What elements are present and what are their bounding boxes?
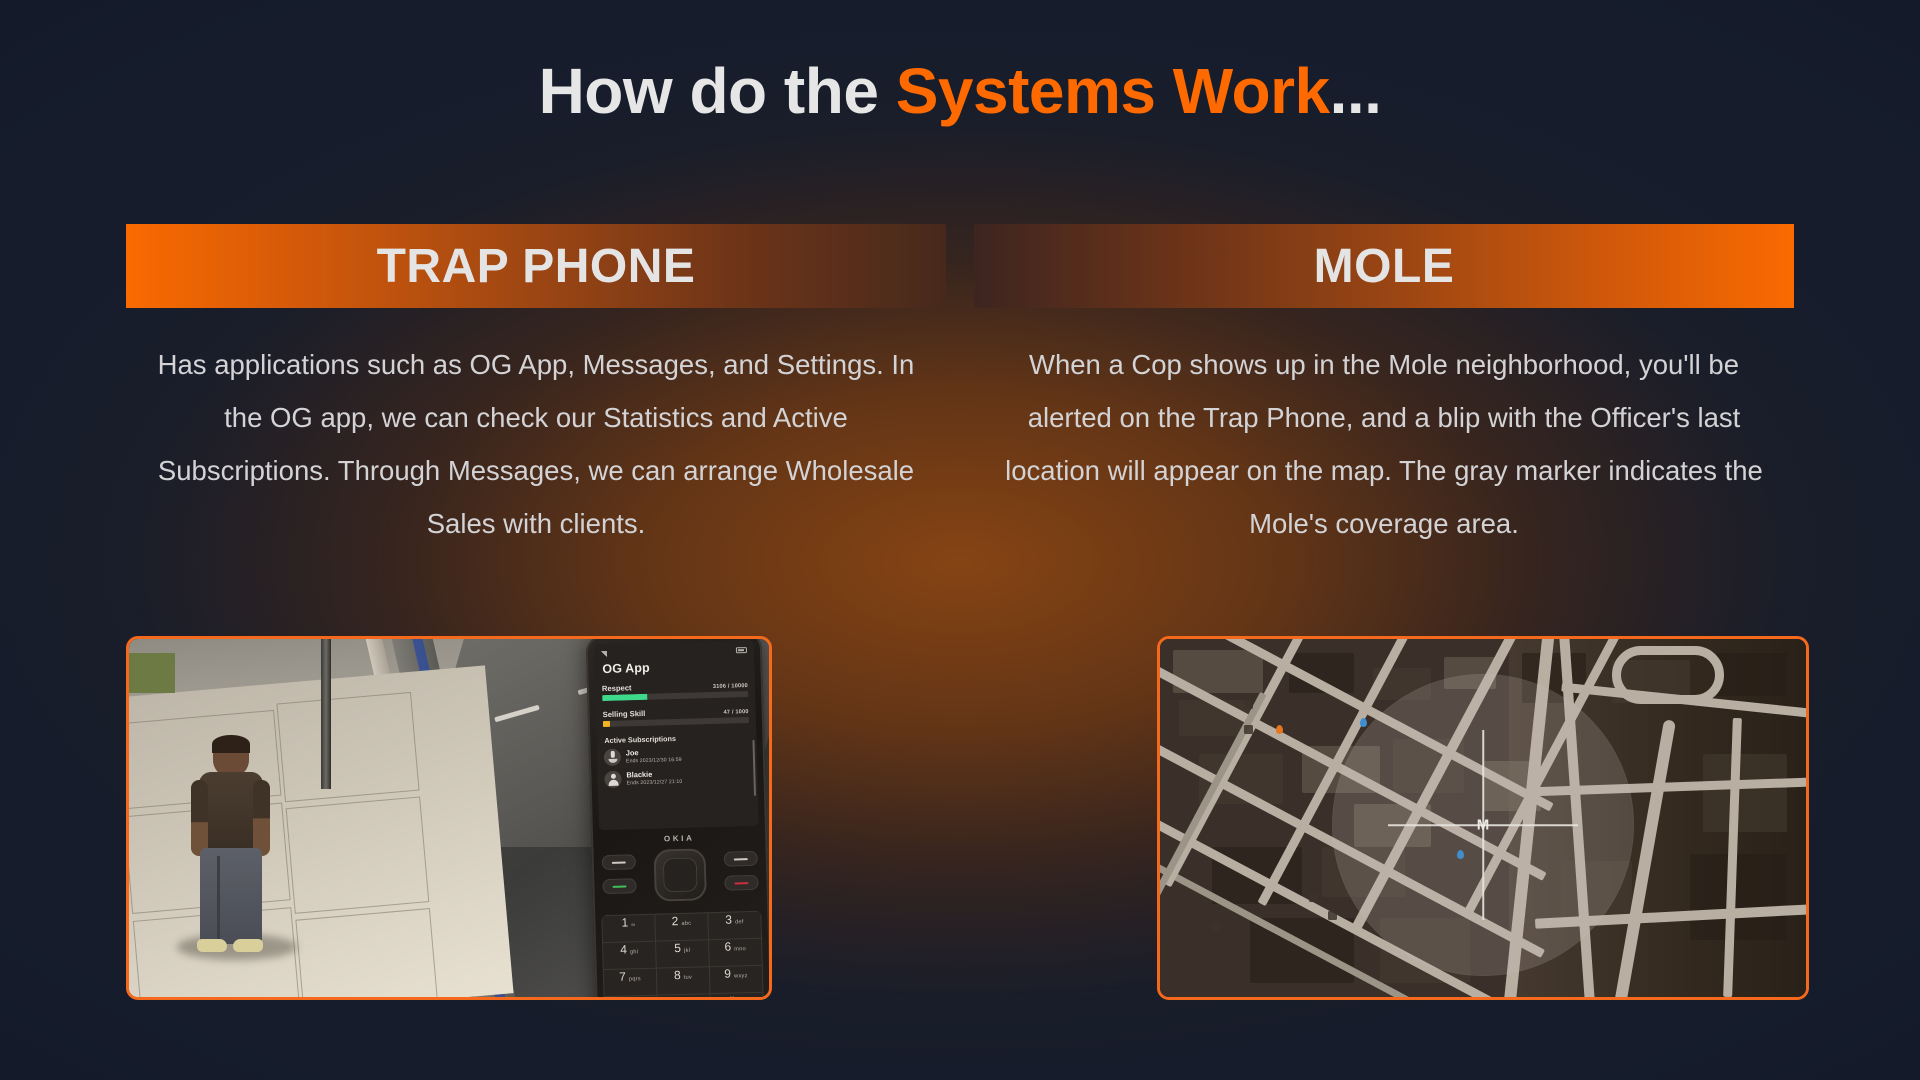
character-arm-left bbox=[191, 780, 208, 856]
map-poi-icon[interactable] bbox=[1244, 700, 1253, 709]
subscriptions-heading: Active Subscriptions bbox=[604, 732, 749, 745]
phone-status-bar bbox=[601, 646, 747, 658]
key-digit: 8 bbox=[674, 968, 681, 982]
key-digit: 5 bbox=[674, 941, 681, 955]
map-poi-icon[interactable] bbox=[1212, 922, 1221, 931]
title-ellipsis: ... bbox=[1330, 55, 1382, 127]
subscription-name: Joe bbox=[626, 748, 639, 757]
end-call-button[interactable] bbox=[724, 875, 758, 891]
key-letters: ghi bbox=[630, 949, 639, 955]
game-minimap: M bbox=[1160, 639, 1806, 997]
media-trap-phone: OG App Respect 3106 / 10000 Selling Skil… bbox=[126, 636, 772, 1000]
description-mole: When a Cop shows up in the Mole neighbor… bbox=[974, 338, 1794, 550]
vehicle-blip-icon[interactable] bbox=[1360, 718, 1367, 727]
key-digit: 0 bbox=[677, 995, 684, 997]
key-5[interactable]: 5jkl bbox=[656, 940, 709, 967]
phone-nav-zone bbox=[599, 845, 761, 911]
stat-label-respect: Respect bbox=[602, 683, 632, 693]
slide-root: How do the Systems Work... TRAP PHONE Ha… bbox=[0, 0, 1920, 1080]
progress-fill-respect bbox=[602, 694, 647, 701]
list-item[interactable]: Joe Ends 2023/12/30 16:59 bbox=[604, 745, 750, 766]
mole-marker[interactable]: M bbox=[1471, 818, 1496, 833]
banner-trap-phone-label: TRAP PHONE bbox=[377, 239, 696, 294]
key-letters: abc bbox=[681, 921, 691, 927]
character-leg-split bbox=[217, 856, 220, 942]
battery-icon bbox=[736, 647, 747, 653]
phone-brand-label: OKIA bbox=[599, 832, 759, 845]
dpad-control[interactable] bbox=[653, 848, 706, 901]
subscription-expiry: Ends 2023/12/30 16:59 bbox=[626, 757, 682, 765]
page-title: How do the Systems Work... bbox=[0, 56, 1920, 126]
key-letters: pqrs bbox=[629, 976, 641, 982]
description-trap-phone: Has applications such as OG App, Message… bbox=[126, 338, 946, 550]
media-mole-map: M bbox=[1157, 636, 1809, 1000]
end-call-icon bbox=[734, 882, 748, 884]
title-part-highlight: Systems Work bbox=[896, 55, 1330, 127]
subscription-text: Joe Ends 2023/12/30 16:59 bbox=[626, 748, 682, 765]
map-poi-icon[interactable] bbox=[1328, 911, 1337, 920]
dash-icon bbox=[612, 861, 626, 863]
key-hash[interactable]: #o s bbox=[711, 993, 764, 997]
dash-icon bbox=[734, 858, 748, 860]
phone-app-title: OG App bbox=[602, 658, 747, 676]
soft-key-right-top[interactable] bbox=[724, 851, 758, 867]
subscription-expiry: Ends 2023/12/27 21:10 bbox=[627, 779, 683, 787]
character-shoe-right bbox=[233, 939, 263, 952]
map-roundabout bbox=[1612, 646, 1724, 704]
column-trap-phone: TRAP PHONE Has applications such as OG A… bbox=[126, 224, 946, 550]
map-poi-icon[interactable] bbox=[1309, 893, 1318, 902]
person-icon bbox=[604, 771, 621, 788]
key-4[interactable]: 4ghi bbox=[603, 942, 656, 969]
key-digit: 4 bbox=[620, 943, 627, 957]
key-0[interactable]: 0␣ bbox=[658, 994, 711, 997]
key-digit: 7 bbox=[619, 970, 626, 984]
map-block bbox=[1716, 653, 1787, 696]
stat-value-selling-skill: 47 / 1000 bbox=[723, 709, 748, 716]
phone-keypad[interactable]: 1∞ 2abc 3def 4ghi 5jkl 6mno 7pqrs 8tuv 9… bbox=[601, 911, 764, 997]
call-button[interactable] bbox=[602, 878, 636, 894]
key-letters: def bbox=[735, 919, 744, 925]
key-digit: 2 bbox=[671, 914, 678, 928]
subscription-name: Blackie bbox=[626, 769, 652, 779]
map-block bbox=[1690, 854, 1787, 940]
key-letters: mno bbox=[734, 946, 746, 952]
sidewalk-slab bbox=[286, 797, 430, 914]
key-1[interactable]: 1∞ bbox=[602, 915, 655, 942]
scene-grass-patch bbox=[129, 653, 175, 693]
key-3[interactable]: 3def bbox=[708, 912, 761, 939]
subscription-text: Blackie Ends 2023/12/27 21:10 bbox=[626, 770, 682, 787]
map-block bbox=[1703, 754, 1787, 833]
progress-track-respect bbox=[602, 691, 748, 701]
key-digit: 1 bbox=[621, 915, 628, 929]
microphone-icon bbox=[604, 749, 621, 766]
banner-mole-label: MOLE bbox=[1314, 239, 1455, 294]
character-hair bbox=[212, 735, 250, 753]
column-mole: MOLE When a Cop shows up in the Mole nei… bbox=[974, 224, 1794, 550]
title-part-white: How do the bbox=[539, 55, 896, 127]
character-blip-icon[interactable] bbox=[1276, 725, 1283, 734]
signal-icon bbox=[601, 651, 607, 657]
trap-phone-device[interactable]: OG App Respect 3106 / 10000 Selling Skil… bbox=[585, 639, 769, 997]
character-arm-right bbox=[253, 780, 270, 856]
stat-label-selling-skill: Selling Skill bbox=[603, 709, 646, 719]
character-shoe-left bbox=[197, 939, 227, 952]
scrollbar[interactable] bbox=[752, 740, 756, 796]
call-icon bbox=[612, 885, 626, 887]
player-character bbox=[187, 736, 275, 962]
progress-fill-selling-skill bbox=[603, 721, 610, 727]
key-7[interactable]: 7pqrs bbox=[604, 969, 657, 996]
character-legs bbox=[200, 848, 262, 944]
key-6[interactable]: 6mno bbox=[709, 939, 762, 966]
key-digit: 9 bbox=[724, 967, 731, 981]
key-2[interactable]: 2abc bbox=[655, 913, 708, 940]
key-digit: ✱ bbox=[622, 996, 632, 997]
key-letters: wxyz bbox=[734, 973, 748, 979]
key-digit: # bbox=[728, 994, 735, 997]
phone-screen: OG App Respect 3106 / 10000 Selling Skil… bbox=[594, 640, 759, 830]
list-item[interactable]: Blackie Ends 2023/12/27 21:10 bbox=[604, 767, 750, 788]
map-poi-icon[interactable] bbox=[1244, 725, 1253, 734]
key-digit: 3 bbox=[725, 913, 732, 927]
sidewalk-slab bbox=[277, 692, 420, 802]
key-8[interactable]: 8tuv bbox=[657, 967, 710, 994]
scene-lamp-post bbox=[321, 639, 331, 789]
key-letters: tuv bbox=[684, 975, 693, 981]
street-scene: OG App Respect 3106 / 10000 Selling Skil… bbox=[129, 639, 769, 997]
key-letters: ∞ bbox=[631, 922, 635, 928]
banner-trap-phone: TRAP PHONE bbox=[126, 224, 946, 308]
key-digit: 6 bbox=[724, 940, 731, 954]
banner-mole: MOLE bbox=[974, 224, 1794, 308]
key-letters: jkl bbox=[684, 948, 690, 954]
stat-value-respect: 3106 / 10000 bbox=[713, 683, 748, 690]
soft-key-left-top[interactable] bbox=[602, 854, 636, 870]
progress-track-selling-skill bbox=[603, 717, 749, 727]
dpad-center-button[interactable] bbox=[663, 858, 698, 893]
sidewalk-slab bbox=[296, 908, 438, 997]
key-9[interactable]: 9wxyz bbox=[710, 966, 763, 993]
